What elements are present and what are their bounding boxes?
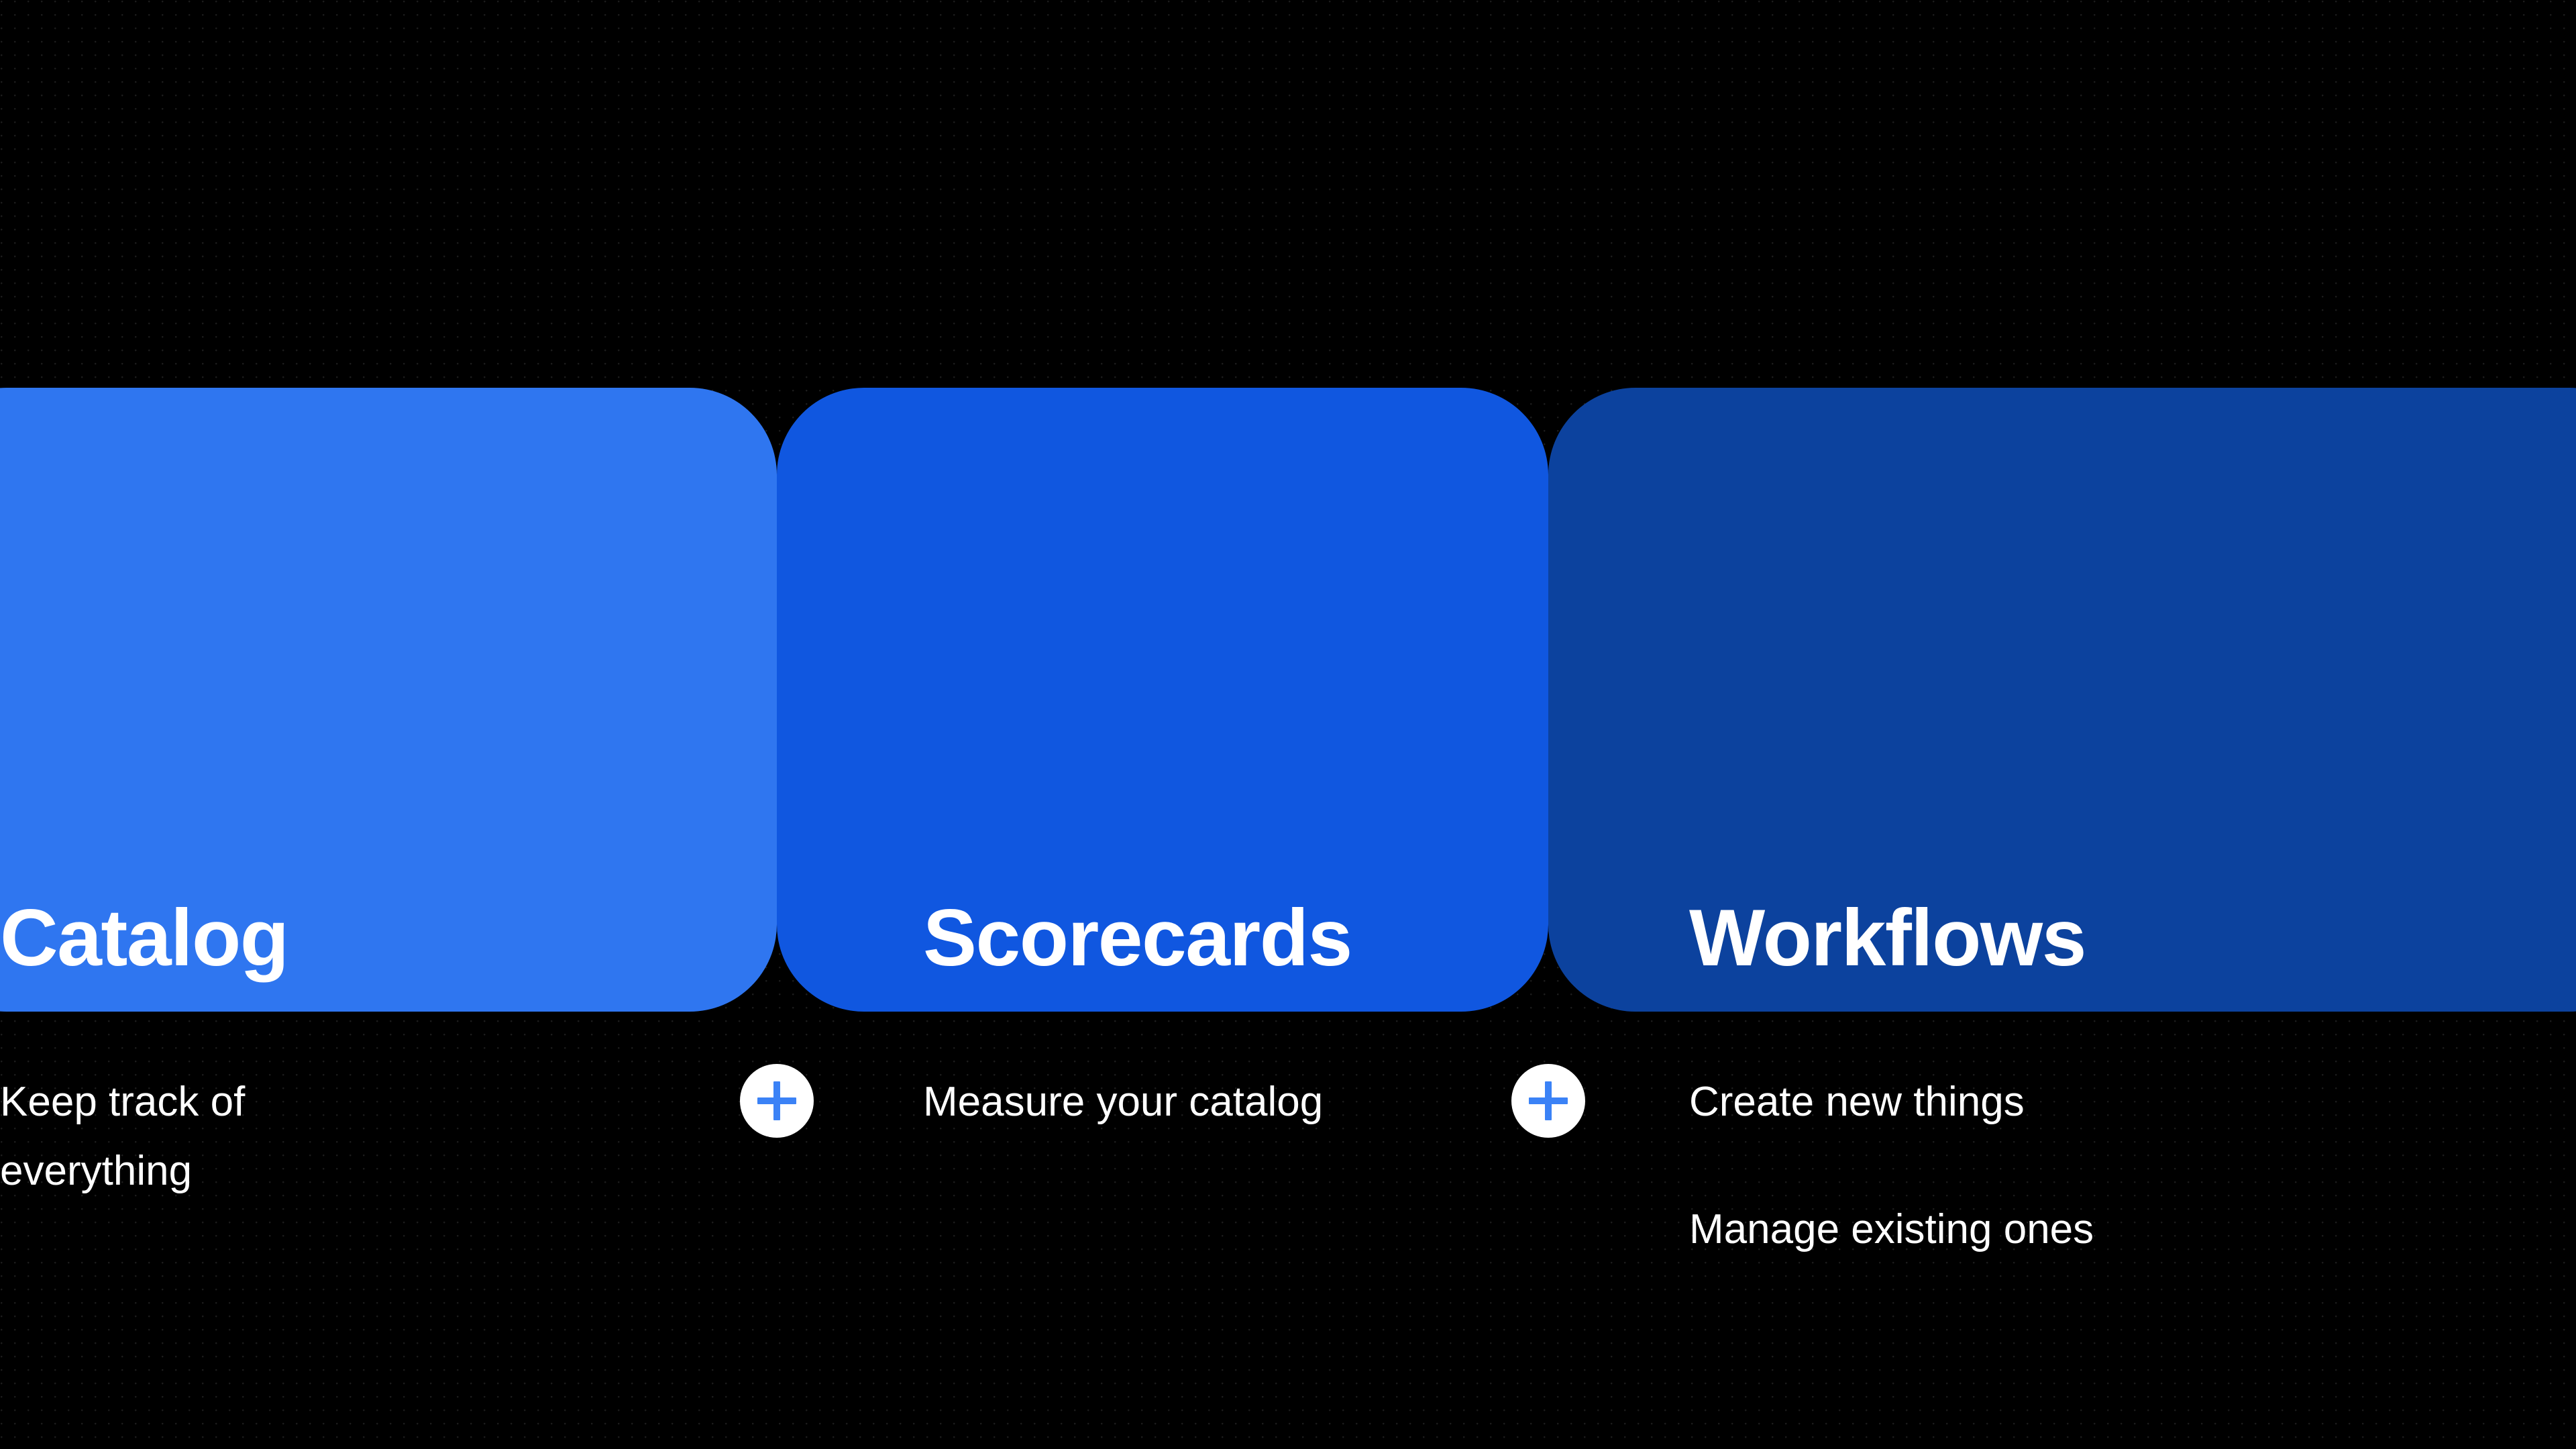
- card-workflows[interactable]: Workflows Create new things Manage exist…: [1548, 388, 2576, 1012]
- card-workflows-body-line: Create new things: [1689, 1067, 2293, 1136]
- card-scorecards-content: Scorecards Measure your catalog: [777, 388, 1548, 1012]
- card-workflows-body-line: Manage existing ones: [1689, 1195, 2293, 1264]
- card-catalog-title: Catalog: [0, 898, 288, 978]
- plus-icon: [1529, 1081, 1568, 1120]
- card-scorecards-body-line: Measure your catalog: [923, 1067, 1433, 1136]
- card-scorecards-title: Scorecards: [923, 898, 1352, 978]
- plus-icon: [757, 1081, 796, 1120]
- card-workflows-title: Workflows: [1689, 898, 2086, 978]
- plus-connector-badge-2: [1511, 1064, 1585, 1138]
- card-catalog[interactable]: Catalog Keep track of everything: [0, 388, 777, 1012]
- card-catalog-content: Catalog Keep track of everything: [0, 388, 777, 1012]
- card-workflows-body: Create new things Manage existing ones: [1689, 1067, 2293, 1264]
- card-workflows-content: Workflows Create new things Manage exist…: [1548, 388, 2576, 1012]
- plus-connector-badge-1: [740, 1064, 814, 1138]
- card-scorecards[interactable]: Scorecards Measure your catalog: [777, 388, 1548, 1012]
- card-catalog-body: Keep track of everything: [0, 1067, 376, 1205]
- card-scorecards-body: Measure your catalog: [923, 1067, 1433, 1136]
- card-catalog-body-line: Keep track of everything: [0, 1067, 376, 1205]
- feature-card-strip: Catalog Keep track of everything Scoreca…: [0, 388, 2576, 1012]
